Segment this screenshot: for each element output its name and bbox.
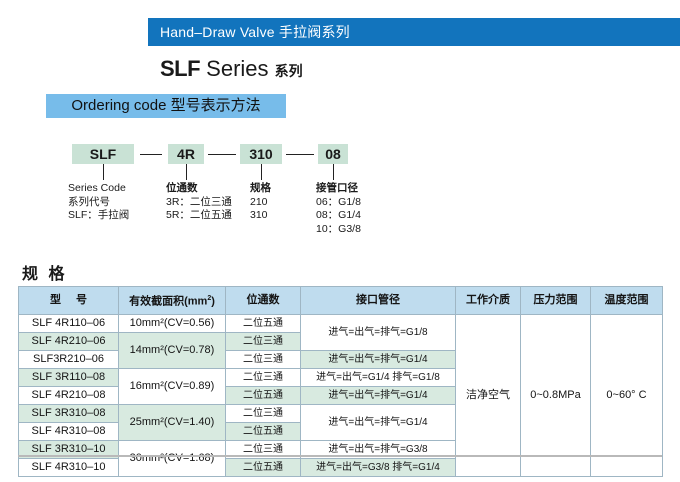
code-leader-line [333,164,334,180]
cell-model: SLF 4R310–10 [19,458,119,476]
spec-table: 型 号 有效截面积(mm2) 位通数 接口管径 工作介质 压力范围 温度范围 S… [18,286,663,477]
cell-ways: 二位五通 [226,386,301,404]
cell-ways: 二位三通 [226,404,301,422]
cell-area: 16mm²(CV=0.89) [119,368,226,404]
spec-heading: 规 格 [22,260,67,284]
page-title-cjk: 系列 [275,63,303,79]
code-legend-line: 310 [250,209,271,223]
code-legend-header: Series Code [68,182,129,196]
column-header-medium: 工作介质 [456,287,521,315]
cell-port: 进气=出气=G1/4 排气=G1/8 [301,368,456,386]
cell-area: 10mm²(CV=0.56) [119,314,226,332]
cell-port: 进气=出气=排气=G1/8 [301,314,456,350]
table-bottom-rule [18,455,662,457]
code-connector-dash [208,154,236,155]
cell-ways: 二位三通 [226,368,301,386]
code-legend-header: 位通数 [166,182,232,196]
code-chip-series: SLF [72,144,134,164]
code-legend-line: 5R：二位五通 [166,209,232,223]
cell-medium: 洁净空气 [456,314,521,476]
code-legend-line: SLF：手拉阀 [68,209,129,223]
cell-area: 14mm²(CV=0.78) [119,332,226,368]
code-chip-ways: 4R [168,144,204,164]
cell-ways: 二位五通 [226,422,301,440]
cell-area: 30mm²(CV=1.68) [119,440,226,476]
cell-port: 进气=出气=G3/8 排气=G1/4 [301,458,456,476]
cell-ways: 二位五通 [226,458,301,476]
cell-port: 进气=出气=排气=G1/4 [301,386,456,404]
column-header-model: 型 号 [19,287,119,315]
code-chip-port: 08 [318,144,348,164]
page-title: SLF Series 系列 [160,56,303,82]
cell-pressure: 0~0.8MPa [521,314,591,476]
code-chip-size: 310 [240,144,282,164]
code-legend-header: 接管口径 [316,182,361,196]
cell-ways: 二位三通 [226,350,301,368]
code-legend-size: 规格 210 310 [250,182,271,223]
code-leader-line [261,164,262,180]
code-legend-line: 系列代号 [68,196,129,210]
column-header-area: 有效截面积(mm2) [119,287,226,315]
cell-model: SLF 4R210–06 [19,332,119,350]
spec-table-header-row: 型 号 有效截面积(mm2) 位通数 接口管径 工作介质 压力范围 温度范围 [19,287,663,315]
column-header-area-text: 有效截面积(mm [129,296,207,308]
column-header-pressure: 压力范围 [521,287,591,315]
code-legend-port: 接管口径 06：G1/8 08：G1/4 10：G3/8 [316,182,361,236]
code-connector-dash [140,154,162,155]
cell-model: SLF 4R310–08 [19,422,119,440]
cell-port: 进气=出气=排气=G1/4 [301,404,456,440]
cell-area: 25mm²(CV=1.40) [119,404,226,440]
cell-model: SLF3R210–06 [19,350,119,368]
column-header-port: 接口管径 [301,287,456,315]
code-legend-header: 规格 [250,182,271,196]
code-legend-line: 210 [250,196,271,210]
table-row: SLF 4R110–06 10mm²(CV=0.56) 二位五通 进气=出气=排… [19,314,663,332]
code-legend-line: 08：G1/4 [316,209,361,223]
code-legend-line: 06：G1/8 [316,196,361,210]
cell-model: SLF 3R110–08 [19,368,119,386]
cell-ways: 二位三通 [226,332,301,350]
code-legend-line: 3R：二位三通 [166,196,232,210]
column-header-area-close: ) [211,296,215,308]
page-title-series-word: Series [200,56,275,81]
column-header-ways: 位通数 [226,287,301,315]
code-connector-dash [286,154,314,155]
code-legend-ways: 位通数 3R：二位三通 5R：二位五通 [166,182,232,223]
cell-ways: 二位五通 [226,314,301,332]
ordering-code-heading: Ordering code 型号表示方法 [46,94,286,118]
cell-model: SLF 4R110–06 [19,314,119,332]
code-leader-line [186,164,187,180]
cell-temperature: 0~60° C [591,314,663,476]
code-legend-series: Series Code 系列代号 SLF：手拉阀 [68,182,129,223]
cell-model: SLF 3R310–08 [19,404,119,422]
cell-port: 进气=出气=排气=G1/4 [301,350,456,368]
code-legend-line: 10：G3/8 [316,223,361,237]
series-banner: Hand–Draw Valve 手拉阀系列 [148,18,680,46]
page-title-series-code: SLF [160,56,200,81]
ordering-code-diagram: SLF 4R 310 08 Series Code 系列代号 SLF：手拉阀 位… [0,138,680,243]
code-leader-line [103,164,104,180]
column-header-temperature: 温度范围 [591,287,663,315]
cell-model: SLF 4R210–08 [19,386,119,404]
